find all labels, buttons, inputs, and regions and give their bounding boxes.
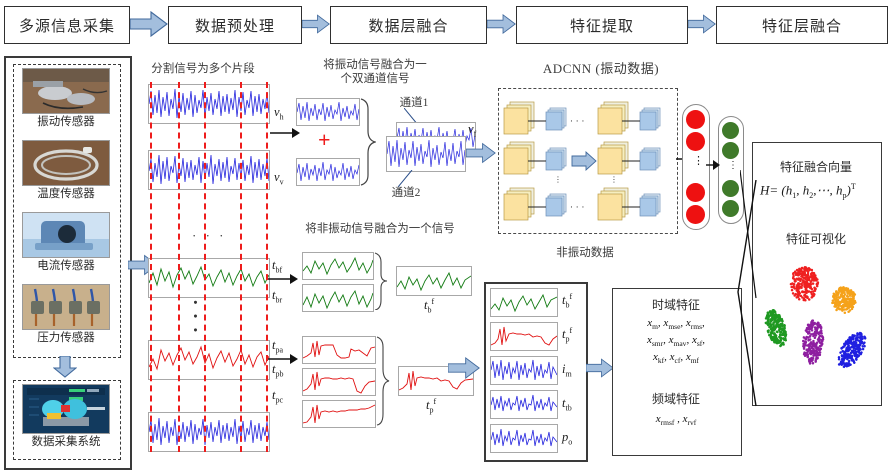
signal-label-tbr: tbr: [272, 288, 282, 305]
neuron-red: [686, 205, 705, 224]
fusion-vector-title: 特征融合向量: [752, 158, 880, 175]
vibfusion-output-label: vf: [468, 122, 476, 139]
signal-label-vv: vv: [274, 170, 284, 187]
sensor-label: 振动传感器: [18, 115, 114, 129]
adcnn-layers: · · ·· · · ⋮⋮: [500, 90, 674, 230]
pressure-sensor-photo: [22, 284, 110, 330]
dual-channel-box-bottom: [386, 136, 466, 172]
vibration-sensor-photo: [22, 68, 110, 114]
stage-box-2[interactable]: 数据预处理: [168, 6, 302, 44]
neuron-green: [722, 142, 739, 159]
stack-label-ttb: ttb: [562, 396, 572, 413]
sensor-to-acquisition-arrow: [53, 356, 77, 378]
feature-box: [612, 288, 742, 456]
segment-waveform-po: [148, 412, 270, 452]
press-input-3: [302, 400, 376, 428]
press-input-1: [302, 336, 376, 364]
svg-text:⋮: ⋮: [554, 175, 562, 184]
segmentation-to-pressfusion-arrow: [268, 352, 298, 366]
neuron-to-fusion-connector: [740, 170, 760, 300]
sensor-item-pressure[interactable]: 压力传感器: [18, 284, 114, 348]
cluster-purple: [800, 319, 826, 366]
stack-signal-ttb: [490, 390, 558, 419]
pipeline-arrow-2: [302, 10, 330, 38]
segmentation-to-vibfusion-arrow: [270, 126, 300, 140]
vibfusion-plus-sign: +: [318, 127, 331, 153]
neuron-column-vdots: ⋮: [693, 154, 704, 167]
svg-text:· · ·: · · ·: [570, 203, 584, 213]
acquisition-system-item[interactable]: 数据采集系统: [18, 384, 114, 454]
svg-text:· · ·: · · ·: [570, 117, 584, 127]
segmentation-hdots: · · ·: [192, 228, 227, 244]
vibfusion-input-1: [296, 98, 360, 126]
adcnn-nonvib-caption: 非振动数据: [525, 246, 645, 260]
acquisition-system-photo: [22, 384, 110, 434]
stage-label: 特征层融合: [762, 15, 842, 36]
signal-label-tpc: tpc: [272, 388, 283, 405]
redcol-to-greencol-arrow: [706, 158, 720, 172]
adcnn-title: ADCNN (振动数据): [516, 62, 686, 76]
sensor-item-temperature[interactable]: 温度传感器: [18, 140, 114, 202]
cluster-green: [761, 307, 792, 350]
stack-label-tpf: tpf: [562, 326, 572, 344]
stage-box-5[interactable]: 特征层融合: [716, 6, 888, 44]
current-sensor-photo: [22, 212, 110, 258]
segmentation-to-tempfusion-arrow: [268, 272, 298, 286]
neuron-red: [686, 132, 705, 151]
stack-label-im: im: [562, 362, 572, 379]
vibration-fusion-title-line1: 将振动信号融合为一: [300, 58, 450, 72]
vibration-fusion-title-line2: 个双通道信号: [300, 72, 450, 86]
neuron-red: [686, 183, 705, 202]
vibfusion-brace: [360, 98, 376, 186]
freq-domain-title: 频域特征: [612, 390, 740, 407]
temp-fused-label: tbf: [424, 297, 434, 315]
stack-label-tbf: tbf: [562, 292, 572, 310]
temp-brace: [374, 252, 388, 310]
stage-box-4[interactable]: 特征提取: [516, 6, 688, 44]
stage-label: 特征提取: [570, 15, 634, 36]
nonvibfusion-to-stack-arrow: [448, 356, 480, 380]
pipeline-arrow-4: [688, 10, 716, 38]
segmentation-vdots: • • •: [187, 300, 203, 335]
stack-signal-po: [490, 424, 558, 453]
pipeline-arrow-1: [130, 10, 168, 38]
time-feature-row: xsmr, xmav, xsf,: [612, 333, 740, 351]
segment-divider: [204, 82, 206, 452]
freq-feature-row: xrmsf , xrvf: [612, 412, 740, 430]
nonvib-fusion-title: 将非振动信号融合为一个信号: [290, 222, 470, 236]
neuron-column-vdots: ⋮: [728, 160, 738, 171]
stack-signal-im: [490, 356, 558, 385]
segment-waveform-vv: [148, 150, 270, 190]
signal-label-vh: vh: [274, 105, 284, 122]
sensor-label: 压力传感器: [18, 331, 114, 345]
stack-signal-tpf: [490, 322, 558, 351]
stage-label: 数据层融合: [368, 15, 448, 36]
press-input-2: [302, 368, 376, 396]
segment-waveform-vh: [148, 84, 270, 124]
pipeline-arrow-3: [487, 10, 516, 38]
feature-visualization-title: 特征可视化: [752, 230, 880, 247]
segment-divider: [266, 82, 268, 452]
stack-label-po: po: [562, 430, 572, 447]
segment-waveform-tpa: [148, 340, 270, 380]
cluster-red: [790, 266, 819, 301]
segment-divider: [178, 82, 180, 452]
temp-fused-signal: [396, 266, 472, 296]
stage-label: 多源信息采集: [19, 15, 115, 36]
neuron-green: [722, 122, 739, 139]
acquisition-label: 数据采集系统: [18, 435, 114, 449]
stack-signal-tbf: [490, 288, 558, 317]
stage-label: 数据预处理: [195, 15, 275, 36]
temp-input-1: [302, 252, 374, 280]
temperature-sensor-photo: [22, 140, 110, 186]
press-brace: [376, 336, 390, 426]
vibfusion-input-2: [296, 158, 360, 186]
time-feature-row: xkf, xcf, xmf: [612, 350, 740, 368]
stage-box-1[interactable]: 多源信息采集: [4, 6, 130, 44]
temp-input-2: [302, 284, 374, 312]
cluster-blue: [832, 327, 872, 373]
cluster-orange: [831, 286, 857, 314]
channel2-label: 通道2: [380, 186, 432, 200]
fusion-vector-formula: H= (h1, h2,⋯, hp)T: [760, 182, 856, 200]
sensor-item-vibration[interactable]: 振动传感器: [18, 68, 114, 130]
stage-box-3[interactable]: 数据层融合: [330, 6, 487, 44]
sensor-label: 温度传感器: [18, 187, 114, 201]
neuron-red: [686, 110, 705, 129]
segment-divider: [240, 82, 242, 452]
time-domain-title: 时域特征: [612, 296, 740, 313]
press-fused-label: tpf: [426, 397, 436, 415]
segment-waveform-tbf: [148, 258, 270, 298]
sensor-label: 电流传感器: [18, 259, 114, 273]
svg-text:⋮: ⋮: [610, 175, 618, 184]
segment-divider: [150, 82, 152, 452]
time-feature-row: xm, xmse, xrms,: [612, 316, 740, 334]
vibfusion-to-adcnn-arrow: [466, 142, 496, 164]
segmentation-title: 分割信号为多个片段: [138, 62, 268, 76]
feature-scatter-plot: [756, 250, 876, 398]
stack-to-features-arrow: [586, 356, 614, 380]
sensor-item-current[interactable]: 电流传感器: [18, 212, 114, 274]
